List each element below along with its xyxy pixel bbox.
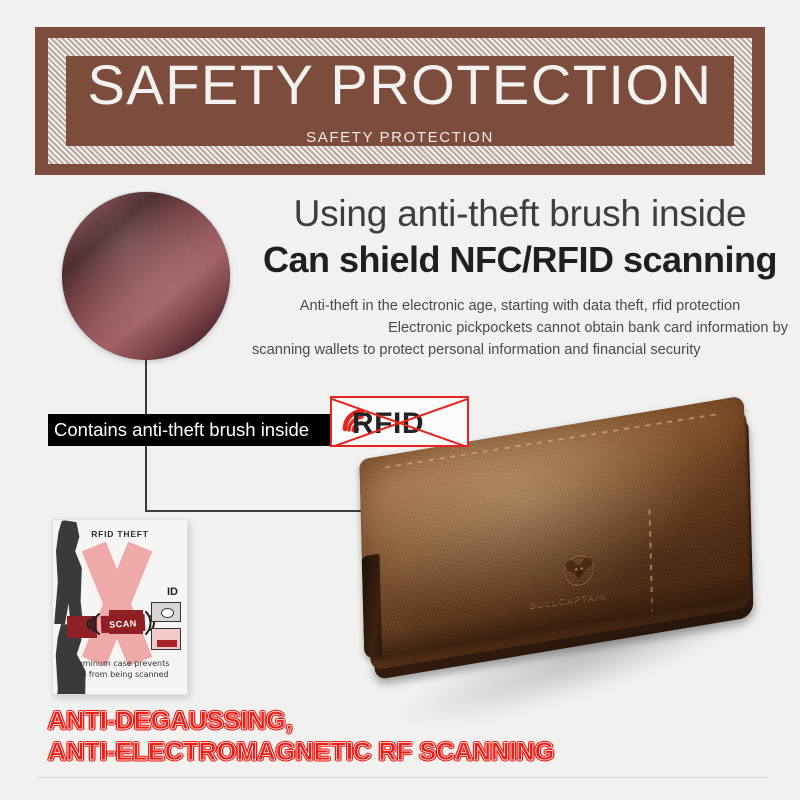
page-subtitle: SAFETY PROTECTION bbox=[306, 129, 494, 146]
rfid-blocked-badge: RFID bbox=[330, 396, 469, 447]
callout-label: Contains anti-theft brush inside bbox=[48, 414, 331, 446]
banner-content: SAFETY PROTECTION SAFETY PROTECTION bbox=[66, 56, 734, 146]
page-title: SAFETY PROTECTION bbox=[88, 57, 713, 113]
body-line-3: scanning wallets to protect personal inf… bbox=[250, 339, 790, 361]
bottom-headline-line-1: ANTI-DEGAUSSING, bbox=[48, 707, 293, 736]
fabric-swatch-image bbox=[62, 192, 230, 360]
body-line-2: Electronic pickpockets cannot obtain ban… bbox=[250, 317, 790, 339]
fabric-highlight bbox=[62, 192, 230, 360]
bottom-divider bbox=[38, 777, 768, 778]
bull-head-logo-icon bbox=[556, 543, 603, 597]
id-label: ID bbox=[167, 586, 178, 598]
banner-hatched-border: SAFETY PROTECTION SAFETY PROTECTION bbox=[48, 38, 752, 164]
banknote-eye-icon bbox=[151, 602, 181, 622]
caption-line-2: info from being scanned bbox=[53, 669, 187, 681]
product-feature-page: SAFETY PROTECTION SAFETY PROTECTION Usin… bbox=[0, 0, 800, 800]
theft-card-caption: aluminum case prevents info from being s… bbox=[53, 658, 187, 681]
credit-card-icon bbox=[151, 628, 181, 650]
wallet-photo: BULLCAPTAIN bbox=[330, 400, 800, 760]
headline-block: Using anti-theft brush inside Can shield… bbox=[250, 192, 790, 361]
headline-line-light: Using anti-theft brush inside bbox=[250, 192, 790, 236]
caption-line-1: aluminum case prevents bbox=[53, 658, 187, 670]
wallet-fold-spine bbox=[360, 554, 382, 660]
bottom-headline-line-2: ANTI-ELECTROMAGNETIC RF SCANNING bbox=[48, 738, 554, 767]
scan-badge: SCAN bbox=[101, 614, 146, 633]
headline-body: Anti-theft in the electronic age, starti… bbox=[250, 295, 790, 362]
headline-line-bold: Can shield NFC/RFID scanning bbox=[250, 238, 790, 281]
body-line-1: Anti-theft in the electronic age, starti… bbox=[250, 295, 790, 317]
rfid-theft-illustration-card: RFID THEFT SC bbox=[52, 519, 188, 695]
header-banner: SAFETY PROTECTION SAFETY PROTECTION bbox=[35, 27, 765, 175]
